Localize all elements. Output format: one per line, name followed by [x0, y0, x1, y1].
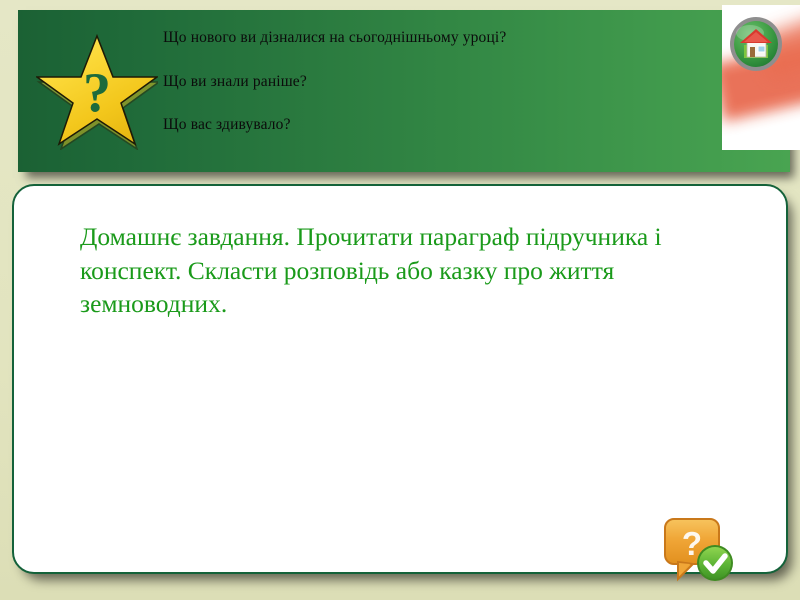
photo-box — [722, 5, 800, 150]
star-question-icon: ? — [36, 32, 158, 150]
slide: Що нового ви дізналися на сьогоднішньому… — [0, 0, 800, 600]
star-question-mark-glyph: ? — [83, 62, 111, 124]
header-band: Що нового ви дізналися на сьогоднішньому… — [18, 10, 790, 172]
home-button-icon[interactable] — [728, 15, 784, 73]
header-question-3: Що вас здивувало? — [163, 117, 723, 133]
header-question-1: Що нового ви дізналися на сьогоднішньому… — [163, 30, 723, 46]
question-bubble-check-icon[interactable]: ? — [662, 516, 736, 584]
header-question-list: Що нового ви дізналися на сьогоднішньому… — [163, 30, 723, 133]
content-panel: Домашнє завдання. Прочитати параграф під… — [12, 184, 788, 574]
homework-text: Домашнє завдання. Прочитати параграф під… — [80, 220, 720, 321]
header-question-2: Що ви знали раніше? — [163, 74, 723, 90]
